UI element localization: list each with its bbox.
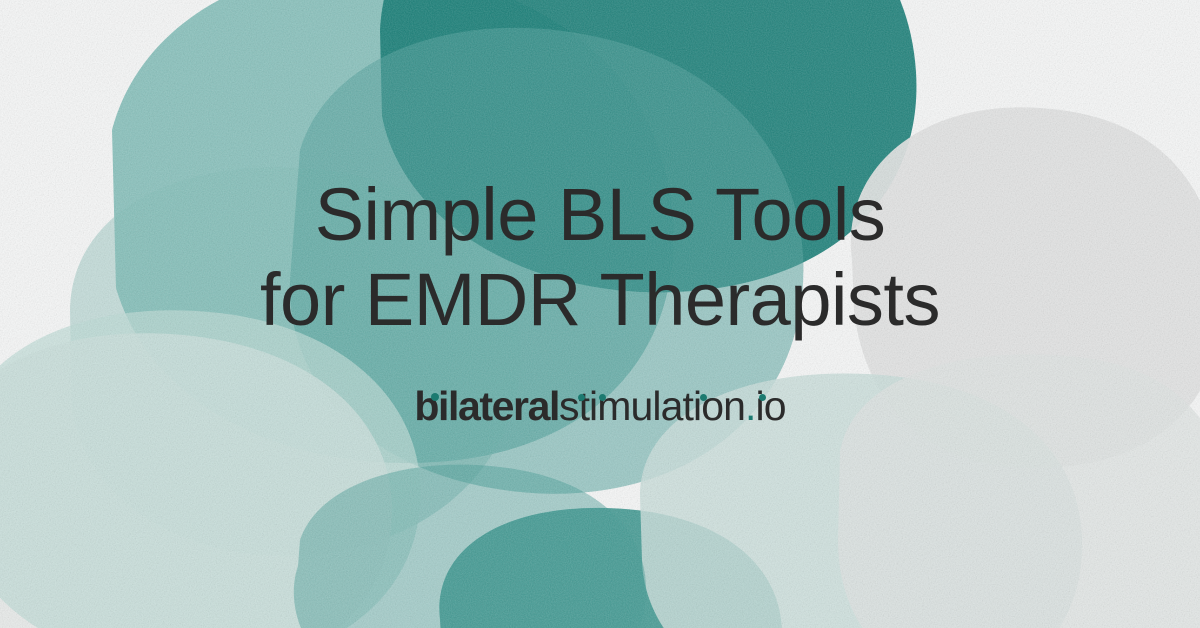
brand-logo[interactable]: bilateral stimulation . io — [414, 386, 785, 427]
headline-line-1: Simple BLS Tools — [260, 173, 940, 257]
logo-tld: io — [756, 386, 786, 427]
logo-i-dot-2 — [578, 394, 585, 401]
logo-i-dot-5 — [759, 394, 766, 401]
logo-dot-separator: . — [745, 386, 756, 427]
headline-line-2: for EMDR Therapists — [260, 258, 940, 342]
logo-i-dot-4 — [700, 394, 707, 401]
page-title: Simple BLS Tools for EMDR Therapists — [260, 173, 940, 342]
banner-canvas: Simple BLS Tools for EMDR Therapists bil… — [0, 0, 1200, 628]
logo-bold-part: bilateral — [414, 386, 559, 427]
logo-light-part: stimulation — [559, 386, 745, 427]
logo-i-dot-3 — [599, 394, 606, 401]
banner-content: Simple BLS Tools for EMDR Therapists bil… — [0, 0, 1200, 628]
